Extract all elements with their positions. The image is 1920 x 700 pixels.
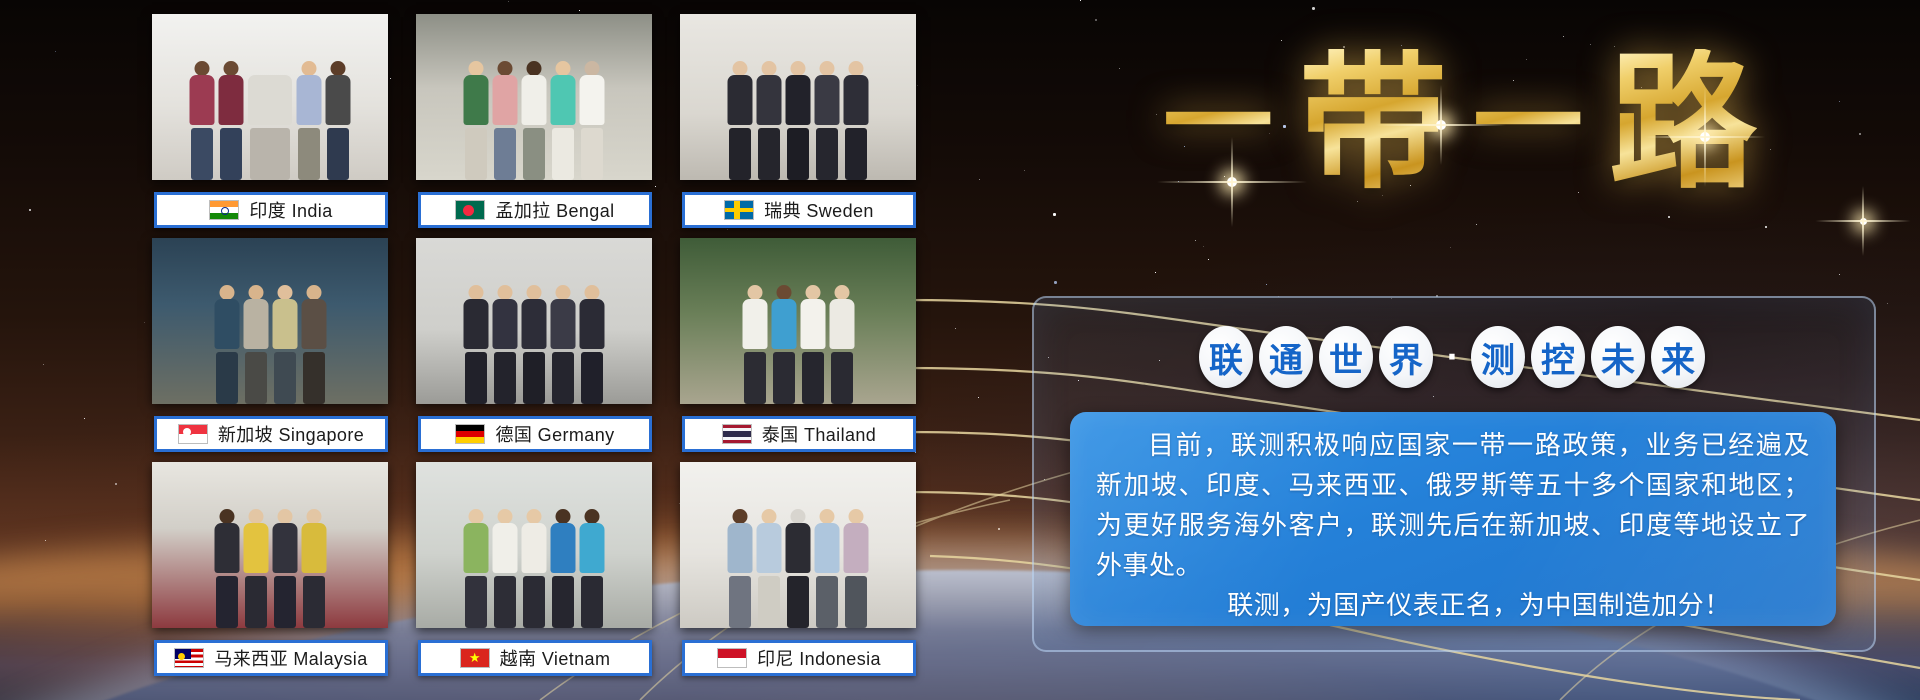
calligraphy-title: 一 带 一 路 [1020, 8, 1900, 238]
slogan-headline: 联 通 世 界 · 测 控 未 来 [1032, 322, 1872, 392]
country-label-text: 新加坡 Singapore [218, 421, 364, 447]
flag-germany-icon [455, 424, 485, 444]
calligraphy-char-3: 一 [1473, 68, 1583, 178]
calligraphy-char-2: 带 [1299, 49, 1447, 197]
country-photo-grid: 印度 India 孟加拉 Bengal [152, 14, 924, 686]
description-text-main: 目前，联测积极响应国家一带一路政策，业务已经遍及新加坡、印度、马来西亚、俄罗斯等… [1096, 431, 1810, 581]
calligraphy-char-4: 路 [1609, 49, 1757, 197]
country-label-text: 德国 Germany [495, 421, 614, 447]
flag-bangladesh-icon [455, 200, 485, 220]
photo-card[interactable]: 德国 Germany [416, 238, 652, 448]
slogan-char: 世 [1319, 326, 1373, 388]
country-label-text: 孟加拉 Bengal [495, 197, 614, 223]
flag-singapore-icon [178, 424, 208, 444]
country-label[interactable]: 孟加拉 Bengal [418, 192, 652, 228]
flag-malaysia-icon [174, 648, 204, 668]
country-label-text: 越南 Vietnam [500, 645, 611, 671]
slogan-char: 测 [1471, 326, 1525, 388]
slogan-separator: · [1439, 326, 1465, 388]
photo-card[interactable]: 泰国 Thailand [680, 238, 916, 448]
country-label[interactable]: 印度 India [154, 192, 388, 228]
photo-card[interactable]: 孟加拉 Bengal [416, 14, 652, 224]
flag-indonesia-icon [717, 648, 747, 668]
slogan-char: 来 [1651, 326, 1705, 388]
photo-card[interactable]: 印度 India [152, 14, 388, 224]
country-photo-malaysia [152, 462, 388, 628]
photo-card[interactable]: 瑞典 Sweden [680, 14, 916, 224]
flag-india-icon [209, 200, 239, 220]
description-text-slogan: 联测，为国产仪表正名，为中国制造加分！ [1096, 586, 1810, 626]
country-label-text: 泰国 Thailand [762, 421, 876, 447]
country-photo-india [152, 14, 388, 180]
belt-and-road-banner: 印度 India 孟加拉 Bengal [0, 0, 1920, 700]
country-photo-singapore [152, 238, 388, 404]
country-photo-sweden [680, 14, 916, 180]
country-photo-vietnam [416, 462, 652, 628]
photo-card[interactable]: 印尼 Indonesia [680, 462, 916, 672]
photo-card[interactable]: 越南 Vietnam [416, 462, 652, 672]
country-label[interactable]: 越南 Vietnam [418, 640, 652, 676]
slogan-char: 界 [1379, 326, 1433, 388]
slogan-char: 通 [1259, 326, 1313, 388]
country-photo-germany [416, 238, 652, 404]
country-label-text: 印尼 Indonesia [757, 645, 881, 671]
photo-card[interactable]: 马来西亚 Malaysia [152, 462, 388, 672]
slogan-char: 联 [1199, 326, 1253, 388]
country-label[interactable]: 瑞典 Sweden [682, 192, 916, 228]
country-photo-thailand [680, 238, 916, 404]
description-paragraph: 目前，联测积极响应国家一带一路政策，业务已经遍及新加坡、印度、马来西亚、俄罗斯等… [1096, 426, 1810, 626]
flag-sweden-icon [724, 200, 754, 220]
country-label[interactable]: 泰国 Thailand [682, 416, 916, 452]
country-label[interactable]: 新加坡 Singapore [154, 416, 388, 452]
country-label-text: 印度 India [249, 197, 332, 223]
slogan-char: 未 [1591, 326, 1645, 388]
calligraphy-char-1: 一 [1163, 68, 1273, 178]
description-box: 目前，联测积极响应国家一带一路政策，业务已经遍及新加坡、印度、马来西亚、俄罗斯等… [1070, 412, 1836, 626]
country-label-text: 瑞典 Sweden [764, 197, 874, 223]
country-label-text: 马来西亚 Malaysia [214, 645, 367, 671]
country-photo-indonesia [680, 462, 916, 628]
country-label[interactable]: 马来西亚 Malaysia [154, 640, 388, 676]
slogan-char: 控 [1531, 326, 1585, 388]
flag-vietnam-icon [460, 648, 490, 668]
country-label[interactable]: 德国 Germany [418, 416, 652, 452]
flag-thailand-icon [722, 424, 752, 444]
country-label[interactable]: 印尼 Indonesia [682, 640, 916, 676]
country-photo-bengal [416, 14, 652, 180]
photo-card[interactable]: 新加坡 Singapore [152, 238, 388, 448]
